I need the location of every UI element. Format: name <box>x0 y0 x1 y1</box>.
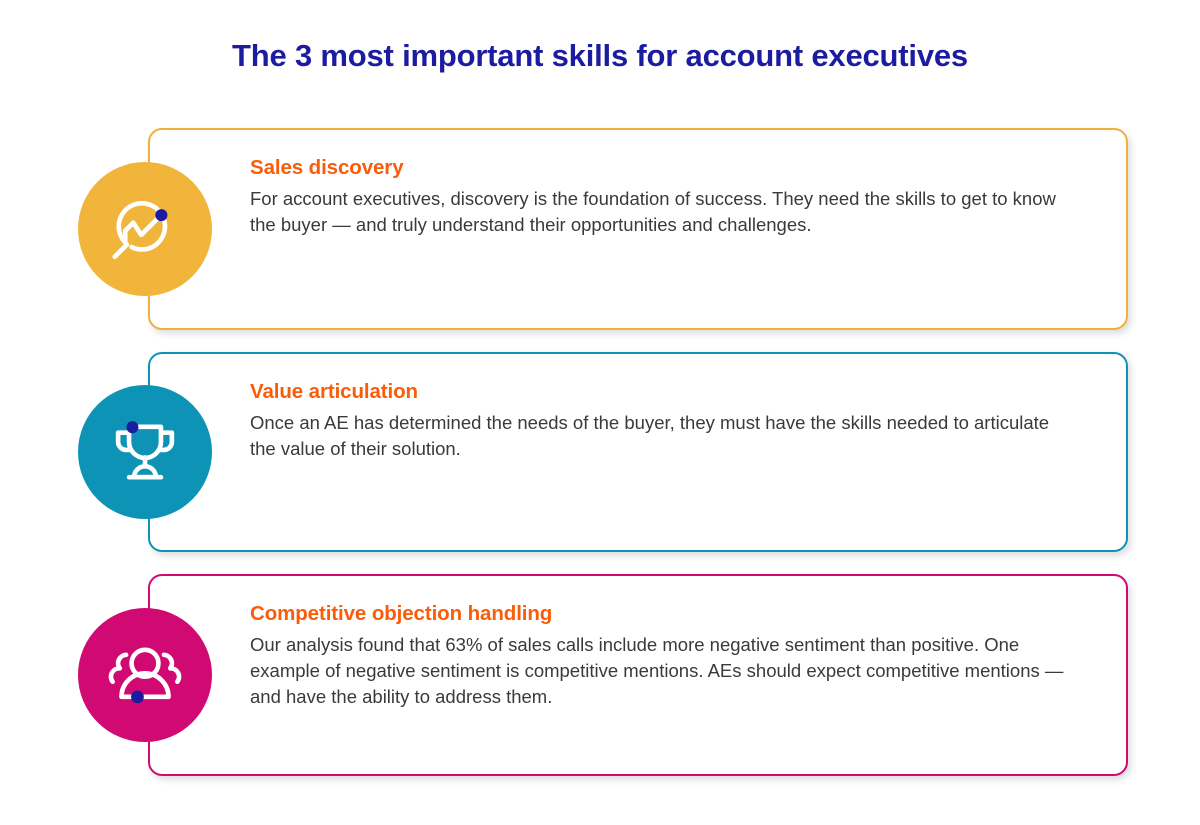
skill-card-value-articulation: Value articulation Once an AE has determ… <box>0 352 1200 552</box>
card-content: Value articulation Once an AE has determ… <box>150 354 1126 488</box>
skill-card-sales-discovery: Sales discovery For account executives, … <box>0 128 1200 330</box>
card-frame: Sales discovery For account executives, … <box>148 128 1128 330</box>
trophy-icon <box>78 385 212 519</box>
card-body-text: Our analysis found that 63% of sales cal… <box>250 632 1070 710</box>
card-content: Competitive objection handling Our analy… <box>150 576 1126 736</box>
card-content: Sales discovery For account executives, … <box>150 130 1126 264</box>
skills-card-list: Sales discovery For account executives, … <box>0 128 1200 798</box>
people-group-icon <box>78 608 212 742</box>
card-frame: Value articulation Once an AE has determ… <box>148 352 1128 552</box>
card-heading: Sales discovery <box>250 156 1096 180</box>
card-heading: Value articulation <box>250 380 1096 404</box>
card-body-text: For account executives, discovery is the… <box>250 186 1070 238</box>
magnifier-trend-icon <box>78 162 212 296</box>
page-title: The 3 most important skills for account … <box>0 38 1200 74</box>
card-body-text: Once an AE has determined the needs of t… <box>250 410 1070 462</box>
card-heading: Competitive objection handling <box>250 602 1096 626</box>
skill-card-objection-handling: Competitive objection handling Our analy… <box>0 574 1200 776</box>
card-frame: Competitive objection handling Our analy… <box>148 574 1128 776</box>
